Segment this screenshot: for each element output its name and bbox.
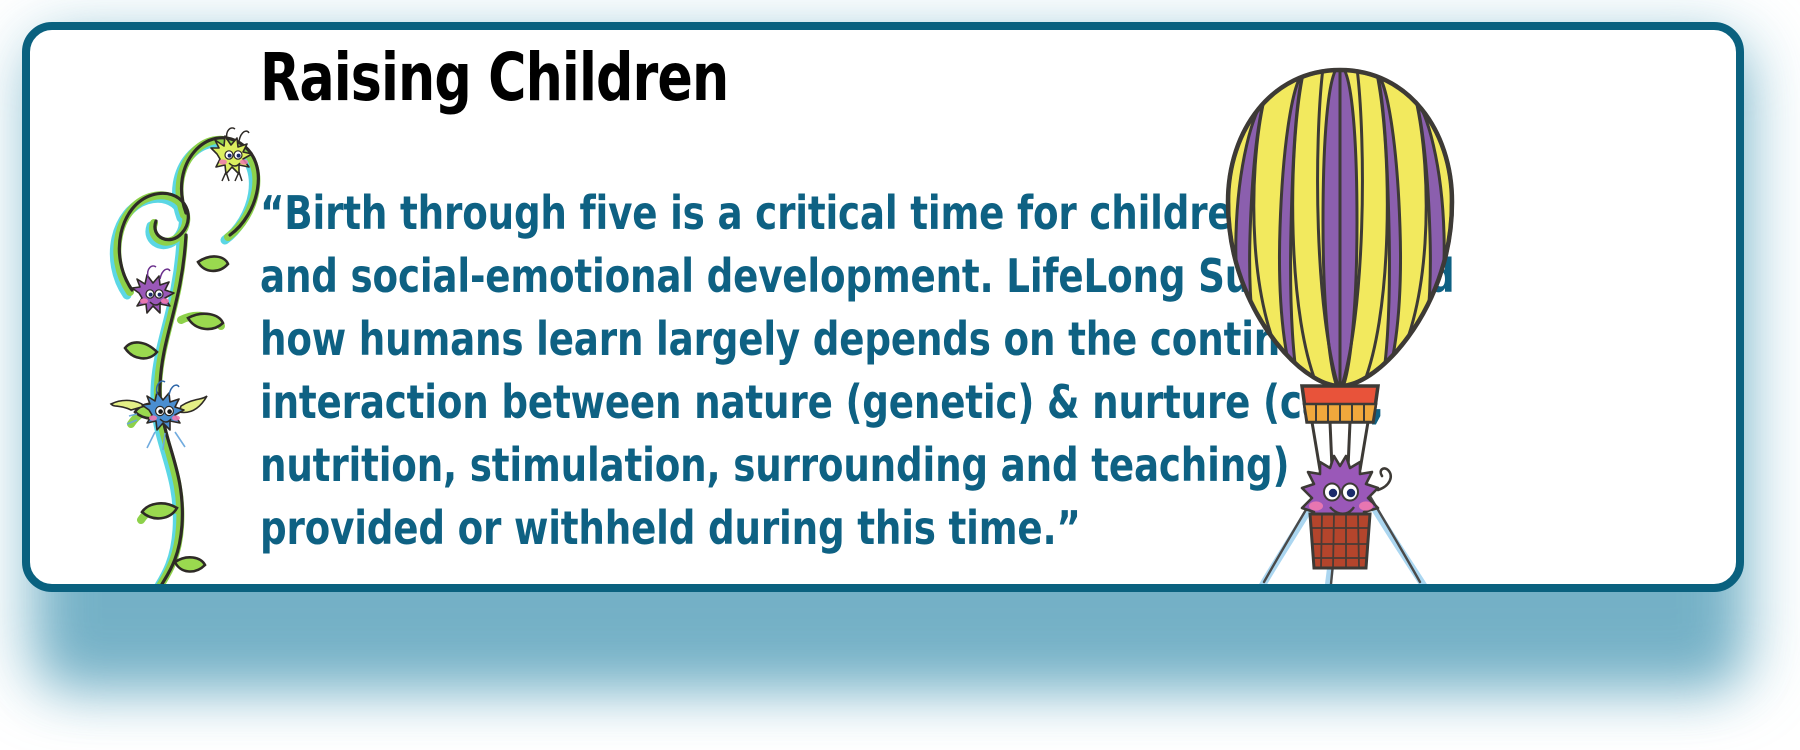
poster-canvas: Raising Children “Birth through five is …	[0, 0, 1800, 750]
quote-line-3: how humans learn largely depends on the …	[260, 308, 1178, 371]
quote-line-4: interaction between nature (genetic) & n…	[260, 371, 1178, 434]
quote-line-6: provided or withheld during this time.”	[260, 497, 1178, 560]
hot-air-balloon-illustration	[1190, 52, 1490, 592]
quote-card: Raising Children “Birth through five is …	[22, 22, 1744, 592]
purple-creature	[132, 266, 174, 313]
vine-illustration	[85, 90, 275, 592]
page-title: Raising Children	[260, 44, 728, 111]
quote-line-1: “Birth through five is a critical time f…	[260, 182, 1178, 245]
quote-line-5: nutrition, stimulation, surrounding and …	[260, 434, 1178, 497]
balloon-basket	[1310, 514, 1370, 568]
quote-line-2: and social-emotional development. LifeLo…	[260, 245, 1178, 308]
quote-text: “Birth through five is a critical time f…	[260, 182, 1280, 560]
